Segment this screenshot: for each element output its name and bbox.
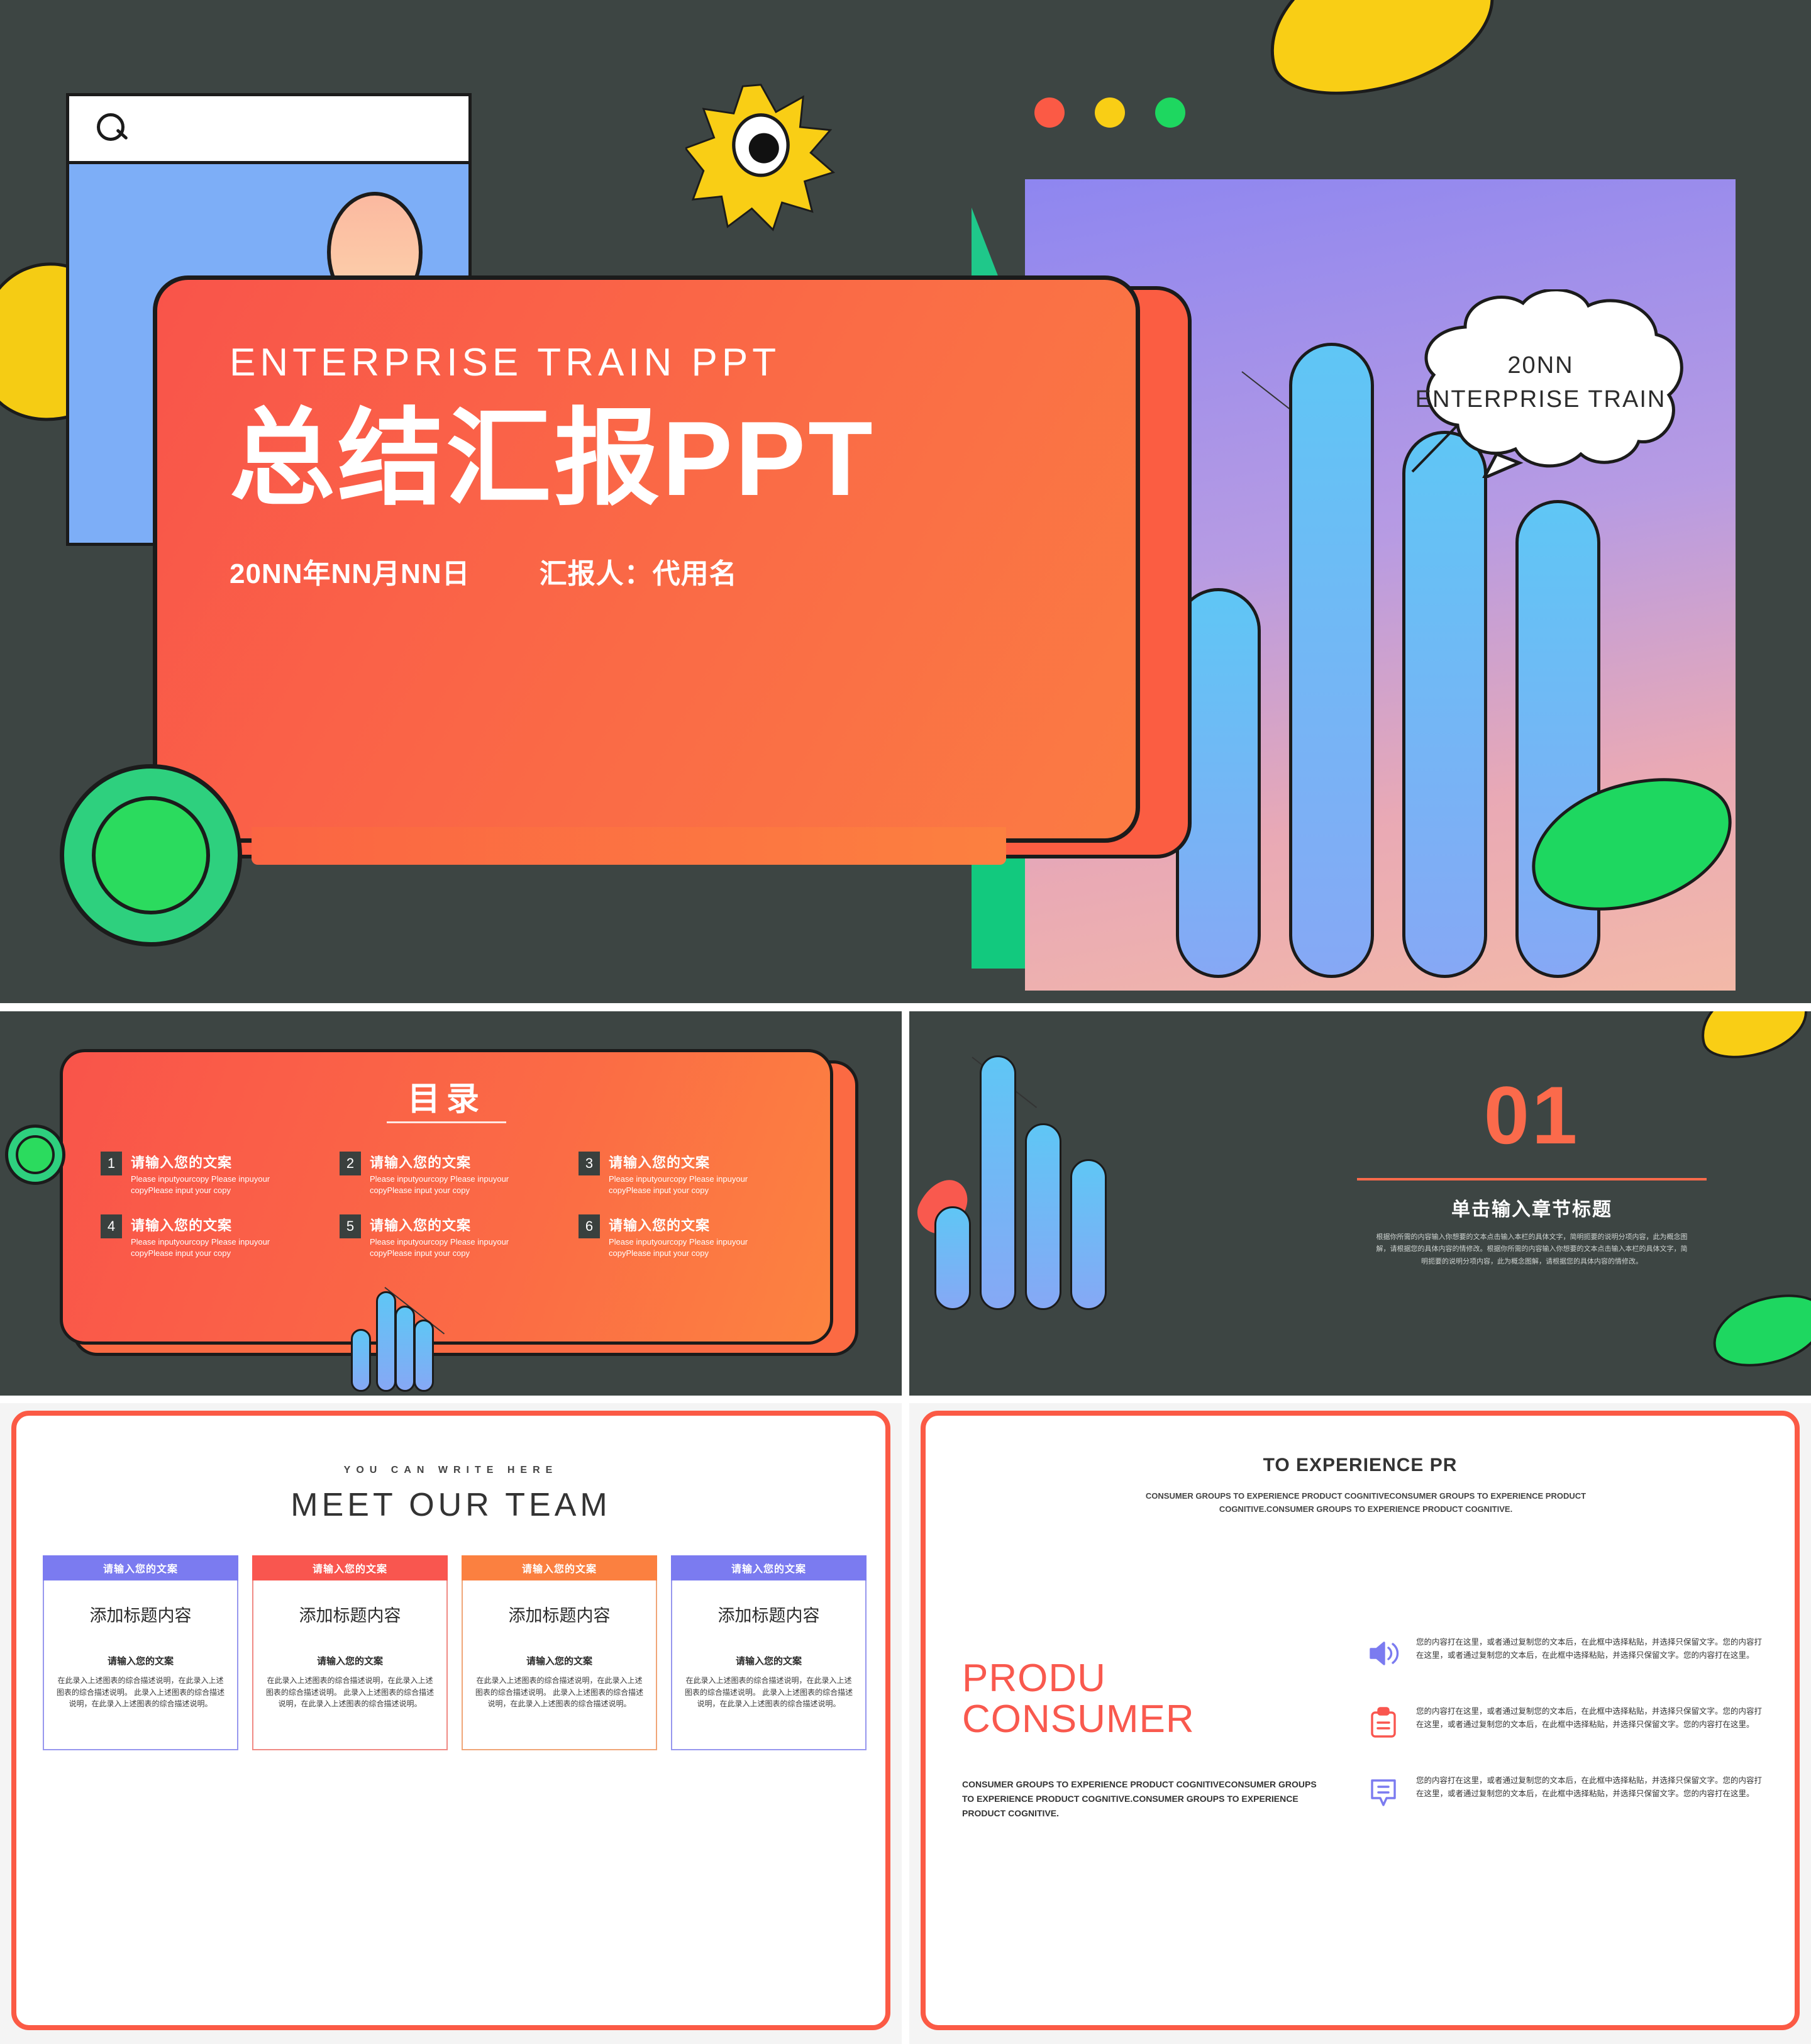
toc-card: 目录 1 请输入您的文案 Please inputyourcopy Please… [60,1049,833,1345]
team-card[interactable]: 请输入您的文案 添加标题内容 请输入您的文案 在此录入上述图表的综合描述说明，在… [252,1555,448,1750]
pr-row-2[interactable]: 您的内容打在这里，或者通过复制您的文本后，在此框中选择粘贴，并选择只保留文字。您… [1366,1705,1768,1740]
slide-meet-our-team[interactable]: YOU CAN WRITE HERE MEET OUR TEAM 请输入您的文案… [0,1403,902,2044]
section-body: 根据你所需的内容输入你想要的文本点击输入本栏的具体文字，简明扼要的说明分项内容，… [1375,1231,1689,1268]
clipboard-icon [1366,1705,1401,1740]
section-number: 01 [1312,1068,1752,1162]
sun-eye-icon [685,82,836,233]
toc-item-number: 5 [340,1214,361,1238]
toc-item-2[interactable]: 2 请输入您的文案 Please inputyourcopy Please in… [340,1152,566,1196]
team-card-heading: 添加标题内容 [263,1602,436,1626]
toc-item-heading: 请输入您的文案 [131,1214,275,1235]
toc-item-heading: 请输入您的文案 [370,1152,514,1172]
slide-table-of-contents[interactable]: 目录 1 请输入您的文案 Please inputyourcopy Please… [0,1011,902,1396]
team-card-tab[interactable]: 请输入您的文案 [43,1555,238,1580]
sec-bar-4 [1070,1159,1107,1310]
team-card-body: 添加标题内容 请输入您的文案 在此录入上述图表的综合描述说明，在此录入上述图表的… [252,1580,448,1750]
toc-title: 目录 [63,1072,830,1119]
bar-2 [1289,343,1374,978]
bubble-text-block: 20NN ENTERPRISE TRAIN [1390,349,1692,417]
toc-item-number: 1 [101,1152,122,1175]
toc-item-1[interactable]: 1 请输入您的文案 Please inputyourcopy Please in… [101,1152,327,1196]
pr-left-column: PRODU CONSUMER CONSUMER GROUPS TO EXPERI… [962,1658,1327,1821]
slide-section-divider[interactable]: 01 单击输入章节标题 根据你所需的内容输入你想要的文本点击输入本栏的具体文字，… [909,1011,1811,1396]
sec-bar-3 [1025,1123,1061,1310]
speaker-icon [1366,1636,1401,1671]
cover-card: ENTERPRISE TRAIN PPT 总结汇报PPT 20NN年NN月NN日… [153,275,1140,843]
cover-card-strip [252,827,1006,865]
green-blob [1704,1283,1811,1379]
green-ring [60,764,242,947]
toc-item-5[interactable]: 5 请输入您的文案 Please inputyourcopy Please in… [340,1214,566,1258]
toc-item-number: 3 [579,1152,600,1175]
dot-green [1155,97,1185,128]
toc-bar-2 [376,1291,396,1392]
toc-bar-3 [395,1306,415,1392]
toc-item-number: 2 [340,1152,361,1175]
team-card-subheading: 请输入您的文案 [473,1654,646,1667]
pr-subtitle: CONSUMER GROUPS TO EXPERIENCE PRODUCT CO… [1133,1490,1598,1516]
toc-title-rule [387,1121,506,1123]
sec-bar-2 [980,1055,1016,1310]
toc-item-heading: 请输入您的文案 [609,1214,753,1235]
team-card-body: 添加标题内容 请输入您的文案 在此录入上述图表的综合描述说明，在此录入上述图表的… [671,1580,867,1750]
team-card-body: 添加标题内容 请输入您的文案 在此录入上述图表的综合描述说明，在此录入上述图表的… [43,1580,238,1750]
green-ring [5,1125,65,1185]
team-eyebrow: YOU CAN WRITE HERE [16,1465,885,1476]
ppt-template-preview: 20NN ENTERPRISE TRAIN ENTERPRISE TRAIN P… [0,0,1811,2044]
pr-row-text: 您的内容打在这里，或者通过复制您的文本后，在此框中选择粘贴，并选择只保留文字。您… [1416,1705,1768,1740]
toc-item-body: Please inputyourcopy Please inpuyour cop… [609,1236,753,1258]
cover-date: 20NN年NN月NN日 [230,558,470,589]
dot-red [1034,97,1065,128]
pr-row-text: 您的内容打在这里，或者通过复制您的文本后，在此框中选择粘贴，并选择只保留文字。您… [1416,1636,1768,1671]
slide-cover[interactable]: 20NN ENTERPRISE TRAIN ENTERPRISE TRAIN P… [0,0,1811,1003]
toc-bar-1 [351,1329,371,1392]
team-card-heading: 添加标题内容 [54,1602,227,1626]
toc-item-body: Please inputyourcopy Please inpuyour cop… [131,1174,275,1196]
dot-yellow [1095,97,1125,128]
toc-item-heading: 请输入您的文案 [609,1152,753,1172]
team-title: MEET OUR TEAM [16,1486,885,1524]
pr-row-text: 您的内容打在这里，或者通过复制您的文本后，在此框中选择粘贴，并选择只保留文字。您… [1416,1774,1768,1809]
toc-item-body: Please inputyourcopy Please inpuyour cop… [131,1236,275,1258]
team-card-text: 在此录入上述图表的综合描述说明，在此录入上述图表的综合描述说明。 此录入上述图表… [263,1675,436,1710]
cover-reporter: 汇报人：代用名 [540,558,738,589]
section-rule [1357,1178,1707,1180]
slide-experience-pr[interactable]: TO EXPERIENCE PR CONSUMER GROUPS TO EXPE… [909,1403,1811,2044]
team-card-subheading: 请输入您的文案 [682,1654,855,1667]
toc-grid: 1 请输入您的文案 Please inputyourcopy Please in… [101,1152,805,1258]
yellow-blob-top [1249,0,1511,118]
team-card-subheading: 请输入您的文案 [54,1654,227,1667]
team-card[interactable]: 请输入您的文案 添加标题内容 请输入您的文案 在此录入上述图表的综合描述说明，在… [462,1555,657,1750]
team-card-grid: 请输入您的文案 添加标题内容 请输入您的文案 在此录入上述图表的综合描述说明，在… [43,1555,867,1750]
team-card-heading: 添加标题内容 [473,1602,646,1626]
toc-item-number: 6 [579,1214,600,1238]
team-card-tab[interactable]: 请输入您的文案 [462,1555,657,1580]
cover-title: 总结汇报PPT [230,403,1136,514]
pr-row-3[interactable]: 您的内容打在这里，或者通过复制您的文本后，在此框中选择粘贴，并选择只保留文字。您… [1366,1774,1768,1809]
team-card-text: 在此录入上述图表的综合描述说明，在此录入上述图表的综合描述说明。 此录入上述图表… [473,1675,646,1710]
team-card-tab[interactable]: 请输入您的文案 [671,1555,867,1580]
toc-item-body: Please inputyourcopy Please inpuyour cop… [370,1236,514,1258]
toc-item-3[interactable]: 3 请输入您的文案 Please inputyourcopy Please in… [579,1152,805,1196]
pr-lead-body: CONSUMER GROUPS TO EXPERIENCE PRODUCT CO… [962,1777,1327,1821]
toc-item-body: Please inputyourcopy Please inpuyour cop… [609,1174,753,1196]
pr-row-1[interactable]: 您的内容打在这里，或者通过复制您的文本后，在此框中选择粘贴，并选择只保留文字。您… [1366,1636,1768,1671]
search-bar[interactable] [69,96,468,164]
team-card-text: 在此录入上述图表的综合描述说明，在此录入上述图表的综合描述说明。 此录入上述图表… [682,1675,855,1710]
team-card-heading: 添加标题内容 [682,1602,855,1626]
toc-item-4[interactable]: 4 请输入您的文案 Please inputyourcopy Please in… [101,1214,327,1258]
pr-frame: TO EXPERIENCE PR CONSUMER GROUPS TO EXPE… [921,1411,1800,2030]
team-frame: YOU CAN WRITE HERE MEET OUR TEAM 请输入您的文案… [11,1411,890,2030]
toc-item-6[interactable]: 6 请输入您的文案 Please inputyourcopy Please in… [579,1214,805,1258]
cover-meta: 20NN年NN月NN日汇报人：代用名 [230,551,1136,591]
team-card-text: 在此录入上述图表的综合描述说明，在此录入上述图表的综合描述说明。 此录入上述图表… [54,1675,227,1710]
toc-bar-4 [414,1319,434,1392]
team-card-tab[interactable]: 请输入您的文案 [252,1555,448,1580]
team-card-body: 添加标题内容 请输入您的文案 在此录入上述图表的综合描述说明，在此录入上述图表的… [462,1580,657,1750]
speech-bubble: 20NN ENTERPRISE TRAIN [1390,289,1692,478]
search-icon [96,112,130,146]
team-card[interactable]: 请输入您的文案 添加标题内容 请输入您的文案 在此录入上述图表的综合描述说明，在… [43,1555,238,1750]
yellow-blob [1691,1011,1811,1069]
bubble-line-1: 20NN [1390,349,1692,383]
cover-eyebrow: ENTERPRISE TRAIN PPT [230,340,1136,385]
toc-item-heading: 请输入您的文案 [131,1152,275,1172]
pr-big-line-1: PRODU [962,1658,1327,1699]
dot-row [1034,97,1185,128]
bar-3 [1402,431,1487,978]
sec-bar-1 [934,1206,971,1310]
toc-item-number: 4 [101,1214,122,1238]
section-subtitle: 单击输入章节标题 [1312,1194,1752,1221]
pr-big-line-2: CONSUMER [962,1699,1327,1740]
team-card-subheading: 请输入您的文案 [263,1654,436,1667]
pr-right-column: 您的内容打在这里，或者通过复制您的文本后，在此框中选择粘贴，并选择只保留文字。您… [1366,1636,1768,1843]
pr-title: TO EXPERIENCE PR [926,1455,1795,1476]
team-card[interactable]: 请输入您的文案 添加标题内容 请输入您的文案 在此录入上述图表的综合描述说明，在… [671,1555,867,1750]
toc-item-heading: 请输入您的文案 [370,1214,514,1235]
bubble-line-2: ENTERPRISE TRAIN [1390,383,1692,417]
toc-item-body: Please inputyourcopy Please inpuyour cop… [370,1174,514,1196]
comment-icon [1366,1774,1401,1809]
